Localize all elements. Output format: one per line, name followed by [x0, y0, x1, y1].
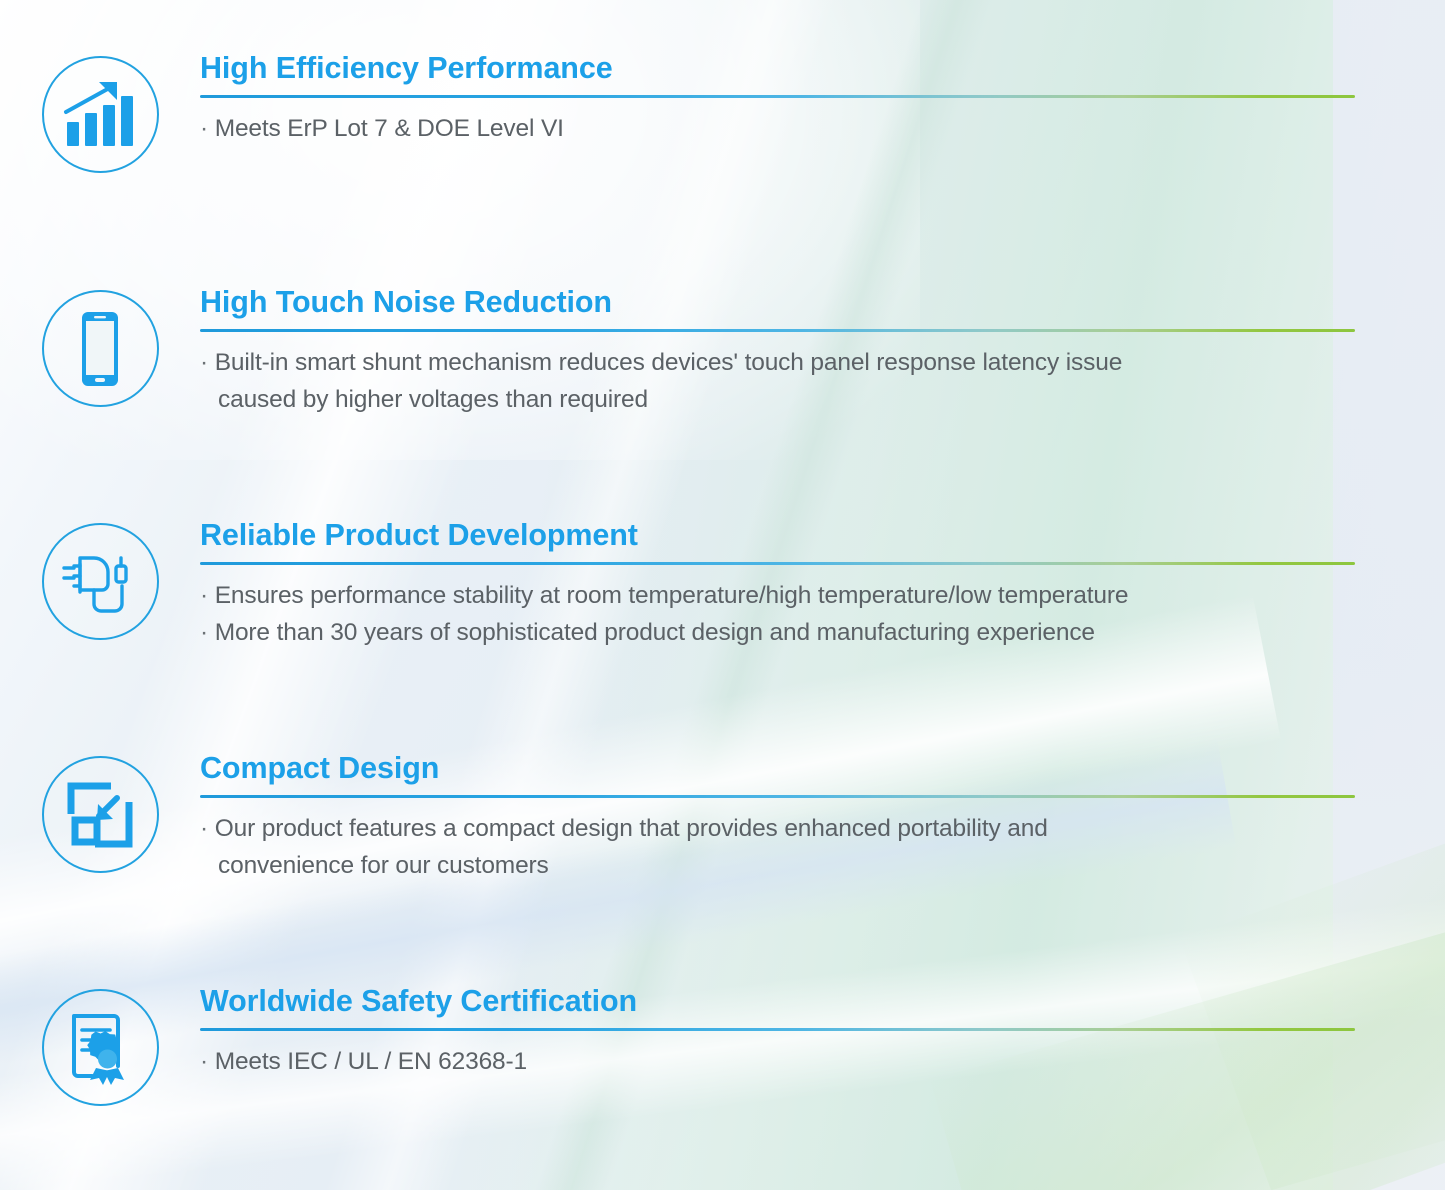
smartphone-icon	[74, 310, 126, 388]
bullet-text: Meets ErP Lot 7 & DOE Level VI	[215, 115, 564, 142]
feature-icon-container	[0, 519, 200, 640]
icon-circle	[42, 756, 159, 873]
bullet-marker: ·	[200, 582, 208, 609]
feature-bullet: · More than 30 years of sophisticated pr…	[200, 614, 1365, 651]
feature-title: High Touch Noise Reduction	[200, 286, 1365, 319]
bullet-text: caused by higher voltages than required	[218, 386, 648, 413]
feature-bullet-continuation: caused by higher voltages than required	[200, 381, 1365, 418]
feature-bullets: · Our product features a compact design …	[200, 810, 1365, 884]
bullet-text: Our product features a compact design th…	[215, 815, 1048, 842]
feature-highlights-page: High Efficiency Performance · Meets ErP …	[0, 0, 1445, 1190]
bullet-text: Meets IEC / UL / EN 62368-1	[215, 1048, 527, 1075]
feature-title: High Efficiency Performance	[200, 52, 1365, 85]
feature-item-high-efficiency-performance: High Efficiency Performance · Meets ErP …	[0, 52, 1445, 173]
feature-bullet: · Meets IEC / UL / EN 62368-1	[200, 1043, 1365, 1080]
icon-circle	[42, 290, 159, 407]
feature-icon-container	[0, 985, 200, 1106]
feature-title: Compact Design	[200, 752, 1365, 785]
feature-bullets: · Ensures performance stability at room …	[200, 577, 1365, 651]
certificate-award-icon	[66, 1010, 134, 1086]
icon-circle	[42, 56, 159, 173]
feature-bullet: · Our product features a compact design …	[200, 810, 1365, 847]
feature-bullet-continuation: convenience for our customers	[200, 847, 1365, 884]
feature-divider	[200, 795, 1355, 798]
feature-item-worldwide-safety-certification: Worldwide Safety Certification · Meets I…	[0, 985, 1445, 1106]
power-adapter-icon	[60, 546, 140, 618]
feature-bullet: · Meets ErP Lot 7 & DOE Level VI	[200, 110, 1365, 147]
icon-circle	[42, 523, 159, 640]
feature-bullets: · Meets IEC / UL / EN 62368-1	[200, 1043, 1365, 1080]
feature-title: Reliable Product Development	[200, 519, 1365, 552]
bullet-text: Built-in smart shunt mechanism reduces d…	[215, 349, 1123, 376]
feature-item-compact-design: Compact Design · Our product features a …	[0, 752, 1445, 884]
feature-item-reliable-product-development: Reliable Product Development · Ensures p…	[0, 519, 1445, 651]
feature-divider	[200, 1028, 1355, 1031]
bar-chart-growth-icon	[63, 80, 137, 150]
feature-body: Reliable Product Development · Ensures p…	[200, 519, 1445, 651]
feature-divider	[200, 329, 1355, 332]
feature-divider	[200, 95, 1355, 98]
feature-divider	[200, 562, 1355, 565]
feature-body: Worldwide Safety Certification · Meets I…	[200, 985, 1445, 1080]
feature-bullets: · Meets ErP Lot 7 & DOE Level VI	[200, 110, 1365, 147]
feature-bullet: · Ensures performance stability at room …	[200, 577, 1365, 614]
bullet-marker: ·	[200, 619, 208, 646]
feature-body: High Efficiency Performance · Meets ErP …	[200, 52, 1445, 147]
feature-body: High Touch Noise Reduction · Built-in sm…	[200, 286, 1445, 418]
feature-icon-container	[0, 286, 200, 407]
bullet-marker: ·	[200, 1048, 208, 1075]
bullet-text: Ensures performance stability at room te…	[215, 582, 1129, 609]
bullet-marker: ·	[200, 815, 208, 842]
bullet-marker: ·	[200, 349, 208, 376]
feature-title: Worldwide Safety Certification	[200, 985, 1365, 1018]
features-list: High Efficiency Performance · Meets ErP …	[0, 0, 1445, 1190]
feature-body: Compact Design · Our product features a …	[200, 752, 1445, 884]
feature-bullets: · Built-in smart shunt mechanism reduces…	[200, 344, 1365, 418]
bullet-marker: ·	[200, 115, 208, 142]
compact-resize-icon	[65, 780, 135, 850]
bullet-text: convenience for our customers	[218, 852, 549, 879]
feature-icon-container	[0, 752, 200, 873]
bullet-text: More than 30 years of sophisticated prod…	[215, 619, 1095, 646]
feature-bullet: · Built-in smart shunt mechanism reduces…	[200, 344, 1365, 381]
feature-icon-container	[0, 52, 200, 173]
feature-item-high-touch-noise-reduction: High Touch Noise Reduction · Built-in sm…	[0, 286, 1445, 418]
icon-circle	[42, 989, 159, 1106]
